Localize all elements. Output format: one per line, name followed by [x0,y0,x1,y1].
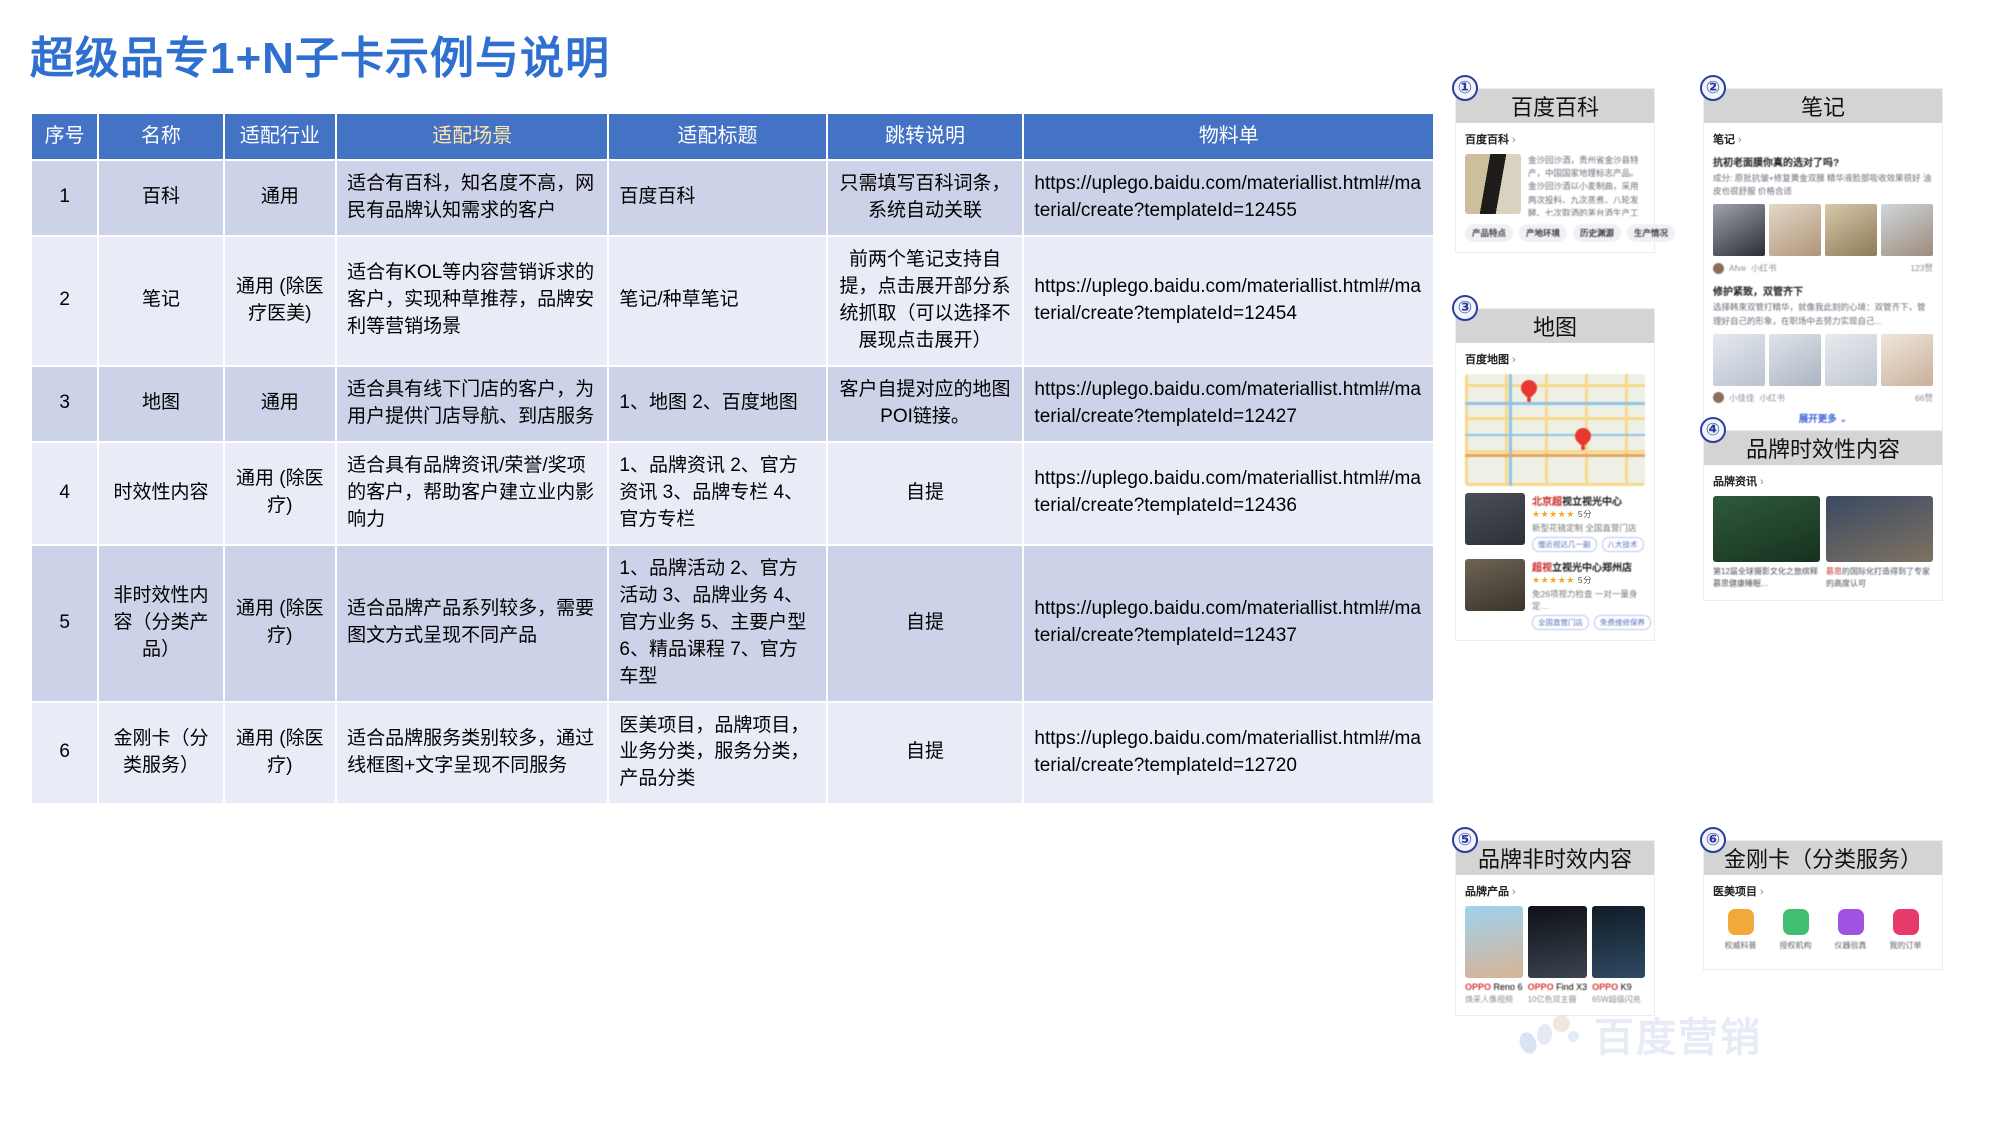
map-pin-icon [1575,428,1591,450]
cell-industry: 通用 (除医疗) [225,546,336,701]
slide-page: 超级品专1+N子卡示例与说明 序号 名称 适配行业 适配场景 适配标题 跳转说明… [0,0,2000,1125]
baike-tag[interactable]: 产品特点 [1465,224,1513,242]
news-image [1826,496,1933,562]
cell-index: 1 [32,161,97,235]
cell-url[interactable]: https://uplego.baidu.com/materiallist.ht… [1024,703,1433,804]
cell-jump: 前两个笔记支持自提，点击展开部分系统抓取（可以选择不展现点击展开） [828,237,1023,365]
preview-card-brand-evergreen[interactable]: ⑤ 品牌非时效内容 品牌产品 › OPPO Reno 6 焕采人像视频 [1455,840,1655,1016]
product-name: OPPO K9 [1592,982,1645,992]
th-index: 序号 [32,114,97,159]
service-item[interactable]: 权威科普 [1713,909,1768,951]
cell-industry: 通用 [225,161,336,235]
news-caption-rest: 的国际化打造得到了专家的高度认可 [1826,567,1930,588]
card-body: 医美项目 › 权威科普 授权机构 仪器验真 [1704,875,1942,969]
service-label: 权威科普 [1713,940,1768,951]
cell-jump: 自提 [828,703,1023,804]
poi-name: 北京超视立视光中心 [1532,493,1645,508]
preview-card-baike[interactable]: ① 百度百科 百度百科 › 金沙回沙酒，贵州省金沙县特产，中国国家地理标志产品。… [1455,88,1655,253]
note-footer: 小佳佳 小红书 66赞 [1713,392,1933,404]
note-item[interactable]: 抗初老面膜你真的选对了吗? 成分: 原批抗皱+修复黄金双膜 精华液脸部吸收效果很… [1713,154,1933,274]
note-title: 修护紧致，双管齐下 [1713,283,1933,298]
news-caption-highlight: 慕思 [1826,567,1842,576]
table-row: 1 百科 通用 适合有百科，知名度不高，网民有品牌认知需求的客户 百度百科 只需… [32,161,1433,235]
baike-tag-row: 产品特点 产地环境 历史渊源 生产情况 [1465,224,1645,242]
product-item[interactable]: OPPO Reno 6 焕采人像视频 [1465,906,1523,1005]
note-author: Afve [1729,263,1746,273]
cell-industry: 通用 (除医疗医美) [225,237,336,365]
poi-text: 超视立视光中心郑州店 ★★★★★ 5分 免26项视力检查 一对一量身定… 全国直… [1532,559,1645,630]
cell-url[interactable]: https://uplego.baidu.com/materiallist.ht… [1024,546,1433,701]
poi-rating-value: 5分 [1578,509,1592,519]
card-banner-title: 笔记 [1704,89,1942,123]
preview-card-map[interactable]: ③ 地图 百度地图 › 北京超视 [1455,308,1655,641]
table-row: 3 地图 通用 适合具有线下门店的客户，为用户提供门店导航、到店服务 1、地图 … [32,367,1433,441]
baike-tag[interactable]: 历史渊源 [1573,224,1621,242]
source-link-brand-news[interactable]: 品牌资讯 › [1713,473,1933,489]
cell-index: 6 [32,703,97,804]
speech-bubble-icon [1728,909,1754,935]
cell-name: 笔记 [99,237,222,365]
news-image [1713,496,1820,562]
product-item[interactable]: OPPO Find X3 10亿色双主摄 [1528,906,1588,1005]
poi-rating-value: 5分 [1578,575,1592,585]
cell-index: 2 [32,237,97,365]
product-image [1592,906,1645,978]
cell-scene: 适合品牌服务类别较多，通过线框图+文字呈现不同服务 [337,703,607,804]
order-list-icon [1893,909,1919,935]
cell-scene: 适合有KOL等内容营销诉求的客户，实现种草推荐，品牌安利等营销场景 [337,237,607,365]
check-badge-icon [1838,909,1864,935]
cell-industry: 通用 (除医疗) [225,443,336,544]
card-banner-title: 金刚卡（分类服务） [1704,841,1942,875]
card-banner-title: 地图 [1456,309,1654,343]
cell-name: 地图 [99,367,222,441]
source-label: 品牌产品 [1465,886,1509,898]
poi-name: 超视立视光中心郑州店 [1532,559,1645,574]
th-scene: 适配场景 [337,114,607,159]
note-image-row [1713,204,1933,256]
th-title: 适配标题 [609,114,825,159]
product-row: OPPO Reno 6 焕采人像视频 OPPO Find X3 10亿色双主摄 [1465,906,1645,1005]
source-label: 医美项目 [1713,886,1757,898]
service-item[interactable]: 授权机构 [1768,909,1823,951]
baike-tag[interactable]: 产地环境 [1519,224,1567,242]
chevron-right-icon: › [1509,886,1516,898]
poi-rating: ★★★★★ 5分 [1532,574,1645,586]
cell-url[interactable]: https://uplego.baidu.com/materiallist.ht… [1024,237,1433,365]
cell-title: 1、地图 2、百度地图 [609,367,825,441]
note-platform: 小红书 [1751,262,1777,274]
news-item[interactable]: 第12届全球摄影文化之旅缤释慕思健康睡眠… [1713,496,1820,590]
card-body: 百度百科 › 金沙回沙酒，贵州省金沙县特产，中国国家地理标志产品。金沙回沙酒以小… [1456,123,1654,252]
product-model: Reno 6 [1494,982,1523,992]
note-image-row [1713,334,1933,386]
spec-table: 序号 名称 适配行业 适配场景 适配标题 跳转说明 物料单 1 百科 通用 适合… [30,112,1435,805]
source-label: 百度地图 [1465,354,1509,366]
poi-name-rest: 视立视光中心 [1562,497,1622,508]
news-caption: 慕思的国际化打造得到了专家的高度认可 [1826,566,1933,590]
cell-title: 1、品牌资讯 2、官方资讯 3、品牌专栏 4、官方专栏 [609,443,825,544]
poi-tag-row: 慢近视达几一副 八大技术 [1532,537,1645,552]
note-title: 抗初老面膜你真的选对了吗? [1713,154,1933,169]
cell-name: 时效性内容 [99,443,222,544]
product-sub: 10亿色双主摄 [1528,994,1588,1005]
news-row: 第12届全球摄影文化之旅缤释慕思健康睡眠… 慕思的国际化打造得到了专家的高度认可 [1713,496,1933,590]
expand-label: 展开更多 [1799,414,1837,425]
source-label: 笔记 [1713,134,1735,146]
table-header-row: 序号 名称 适配行业 适配场景 适配标题 跳转说明 物料单 [32,114,1433,159]
cell-jump: 只需填写百科词条，系统自动关联 [828,161,1023,235]
note-footer: Afve 小红书 123赞 [1713,262,1933,274]
poi-item[interactable]: 超视立视光中心郑州店 ★★★★★ 5分 免26项视力检查 一对一量身定… 全国直… [1465,559,1645,630]
chevron-right-icon: › [1509,354,1516,366]
map-road [1509,374,1512,486]
poi-text: 北京超视立视光中心 ★★★★★ 5分 新型花镜定制 全国直营门店 慢近视达几一副… [1532,493,1645,552]
avatar [1713,263,1724,274]
baike-description: 金沙回沙酒，贵州省金沙县特产，中国国家地理标志产品。金沙回沙酒以小麦制曲，采用两… [1528,154,1645,216]
cell-index: 4 [32,443,97,544]
cell-jump: 自提 [828,546,1023,701]
avatar [1713,392,1724,403]
product-model: Find X3 [1556,982,1587,992]
note-image [1881,204,1933,256]
cell-index: 5 [32,546,97,701]
source-label: 品牌资讯 [1713,476,1757,488]
poi-name-rest: 立视光中心郑州店 [1552,563,1632,574]
poi-tag[interactable]: 八大技术 [1602,537,1644,552]
product-image [1528,906,1588,978]
note-desc: 选择韩束双管打精华，就像我此刻的心境：双管齐下，管理好自己的形象，在职场中去努力… [1713,301,1933,327]
news-caption: 第12届全球摄影文化之旅缤释慕思健康睡眠… [1713,566,1820,590]
news-item[interactable]: 慕思的国际化打造得到了专家的高度认可 [1826,496,1933,590]
product-sub: 65W超级闪充 [1592,994,1645,1005]
cell-scene: 适合具有线下门店的客户，为用户提供门店导航、到店服务 [337,367,607,441]
cell-industry: 通用 (除医疗) [225,703,336,804]
chevron-down-icon: ⌄ [1839,414,1847,425]
cell-url[interactable]: https://uplego.baidu.com/materiallist.ht… [1024,367,1433,441]
source-link-medical[interactable]: 医美项目 › [1713,883,1933,899]
cell-title: 1、品牌活动 2、官方活动 3、品牌业务 4、官方业务 5、主要户型 6、精品课… [609,546,825,701]
note-image [1825,334,1877,386]
preview-panel: ① 百度百科 百度百科 › 金沙回沙酒，贵州省金沙县特产，中国国家地理标志产品。… [1455,80,2000,1125]
poi-tag[interactable]: 慢近视达几一副 [1532,537,1597,552]
product-brand: OPPO [1528,982,1554,992]
product-image [1465,906,1523,978]
product-name: OPPO Reno 6 [1465,982,1523,992]
source-link-notes[interactable]: 笔记 › [1713,131,1933,147]
product-brand: OPPO [1465,982,1491,992]
product-brand: OPPO [1592,982,1618,992]
source-link-map[interactable]: 百度地图 › [1465,351,1645,367]
card-badge-5: ⑤ [1452,827,1478,853]
note-image [1713,204,1765,256]
baike-thumbnail [1465,154,1521,214]
cell-name: 非时效性内容（分类产品） [99,546,222,701]
note-likes: 66赞 [1915,392,1933,404]
map-road [1465,454,1645,457]
note-image [1713,334,1765,386]
source-link-baike[interactable]: 百度百科 › [1465,131,1645,147]
card-body: 百度地图 › 北京超视立视光中心 ★★★★★ [1456,343,1654,640]
spec-table-wrapper: 序号 名称 适配行业 适配场景 适配标题 跳转说明 物料单 1 百科 通用 适合… [30,112,1435,805]
table-row: 6 金刚卡（分类服务） 通用 (除医疗) 适合品牌服务类别较多，通过线框图+文字… [32,703,1433,804]
shield-icon [1783,909,1809,935]
service-icon-row: 权威科普 授权机构 仪器验真 我的订单 [1713,909,1933,951]
card-body: 品牌产品 › OPPO Reno 6 焕采人像视频 OPPO [1456,875,1654,1015]
service-label: 仪器验真 [1823,940,1878,951]
watermark-text: 百度营销 [1594,1005,1762,1063]
poi-rating: ★★★★★ 5分 [1532,508,1645,520]
chevron-right-icon: › [1757,886,1764,898]
source-label: 百度百科 [1465,134,1509,146]
product-item[interactable]: OPPO K9 65W超级闪充 [1592,906,1645,1005]
cell-url[interactable]: https://uplego.baidu.com/materiallist.ht… [1024,161,1433,235]
service-item[interactable]: 我的订单 [1878,909,1933,951]
service-label: 授权机构 [1768,940,1823,951]
map-road [1465,402,1645,405]
note-likes: 123赞 [1910,262,1933,274]
chevron-right-icon: › [1509,134,1516,146]
note-image [1825,204,1877,256]
note-platform: 小红书 [1760,392,1786,404]
card-badge-3: ③ [1452,295,1478,321]
poi-desc: 新型花镜定制 全国直营门店 [1532,522,1645,534]
card-banner-title: 品牌时效性内容 [1704,431,1942,465]
poi-thumbnail [1465,559,1525,611]
card-badge-1: ① [1452,75,1478,101]
poi-tag[interactable]: 免费维修保养 [1594,615,1651,630]
map-road [1465,434,1645,436]
card-banner-title: 品牌非时效内容 [1456,841,1654,875]
cell-title: 医美项目，品牌项目，业务分类，服务分类，产品分类 [609,703,825,804]
source-link-brand-products[interactable]: 品牌产品 › [1465,883,1645,899]
card-body: 笔记 › 抗初老面膜你真的选对了吗? 成分: 原批抗皱+修复黄金双膜 精华液脸部… [1704,123,1942,435]
th-industry: 适配行业 [225,114,336,159]
baike-content: 金沙回沙酒，贵州省金沙县特产，中国国家地理标志产品。金沙回沙酒以小麦制曲，采用两… [1465,154,1645,216]
preview-card-brand-timely[interactable]: ④ 品牌时效性内容 品牌资讯 › 第12届全球摄影文化之旅缤释慕思健康睡眠… 慕… [1703,430,1943,601]
cell-name: 金刚卡（分类服务） [99,703,222,804]
baidu-paw-logo-icon [1520,1014,1580,1054]
cell-jump: 自提 [828,443,1023,544]
poi-item[interactable]: 北京超视立视光中心 ★★★★★ 5分 新型花镜定制 全国直营门店 慢近视达几一副… [1465,493,1645,552]
poi-tag[interactable]: 全国直营门店 [1532,615,1589,630]
table-row: 4 时效性内容 通用 (除医疗) 适合具有品牌资讯/荣誉/奖项的客户，帮助客户建… [32,443,1433,544]
card-badge-6: ⑥ [1700,827,1726,853]
map-pin-icon [1521,380,1537,402]
cell-title: 笔记/种草笔记 [609,237,825,365]
note-image [1881,334,1933,386]
baidu-marketing-watermark: 百度营销 [1520,1005,1762,1063]
table-row: 5 非时效性内容（分类产品） 通用 (除医疗) 适合品牌产品系列较多，需要图文方… [32,546,1433,701]
cell-industry: 通用 [225,367,336,441]
cell-scene: 适合品牌产品系列较多，需要图文方式呈现不同产品 [337,546,607,701]
cell-scene: 适合有百科，知名度不高，网民有品牌认知需求的客户 [337,161,607,235]
th-name: 名称 [99,114,222,159]
th-material: 物料单 [1024,114,1433,159]
product-model: K9 [1621,982,1632,992]
note-item[interactable]: 修护紧致，双管齐下 选择韩束双管打精华，就像我此刻的心境：双管齐下，管理好自己的… [1713,283,1933,403]
preview-card-notes[interactable]: ② 笔记 笔记 › 抗初老面膜你真的选对了吗? 成分: 原批抗皱+修复黄金双膜 … [1703,88,1943,436]
poi-name-highlight: 超视 [1532,563,1552,574]
poi-thumbnail [1465,493,1525,545]
cell-scene: 适合具有品牌资讯/荣誉/奖项的客户，帮助客户建立业内影响力 [337,443,607,544]
table-body: 1 百科 通用 适合有百科，知名度不高，网民有品牌认知需求的客户 百度百科 只需… [32,161,1433,803]
product-sub: 焕采人像视频 [1465,994,1523,1005]
cell-url[interactable]: https://uplego.baidu.com/materiallist.ht… [1024,443,1433,544]
th-jump: 跳转说明 [828,114,1023,159]
cell-name: 百科 [99,161,222,235]
chevron-right-icon: › [1735,134,1742,146]
expand-more-button[interactable]: 展开更多 ⌄ [1713,404,1933,425]
poi-desc: 免26项视力检查 一对一量身定… [1532,588,1645,612]
cell-jump: 客户自提对应的地图POI链接。 [828,367,1023,441]
card-badge-4: ④ [1700,417,1726,443]
note-desc: 成分: 原批抗皱+修复黄金双膜 精华液脸部吸收效果很好 油皮也很舒服 价格合适 [1713,172,1933,198]
cell-index: 3 [32,367,97,441]
map-image[interactable] [1465,374,1645,486]
service-label: 我的订单 [1878,940,1933,951]
card-body: 品牌资讯 › 第12届全球摄影文化之旅缤释慕思健康睡眠… 慕思的国际化打造得到了… [1704,465,1942,600]
card-banner-title: 百度百科 [1456,89,1654,123]
product-name: OPPO Find X3 [1528,982,1588,992]
chevron-right-icon: › [1757,476,1764,488]
poi-tag-row: 全国直营门店 免费维修保养 [1532,615,1645,630]
note-image [1769,334,1821,386]
note-author: 小佳佳 [1729,392,1755,404]
poi-name-highlight: 北京超 [1532,497,1562,508]
service-item[interactable]: 仪器验真 [1823,909,1878,951]
baike-tag[interactable]: 生产情况 [1627,224,1675,242]
page-title: 超级品专1+N子卡示例与说明 [30,22,610,86]
cell-title: 百度百科 [609,161,825,235]
table-row: 2 笔记 通用 (除医疗医美) 适合有KOL等内容营销诉求的客户，实现种草推荐，… [32,237,1433,365]
note-image [1769,204,1821,256]
preview-card-service-grid[interactable]: ⑥ 金刚卡（分类服务） 医美项目 › 权威科普 授权机构 [1703,840,1943,970]
card-badge-2: ② [1700,75,1726,101]
